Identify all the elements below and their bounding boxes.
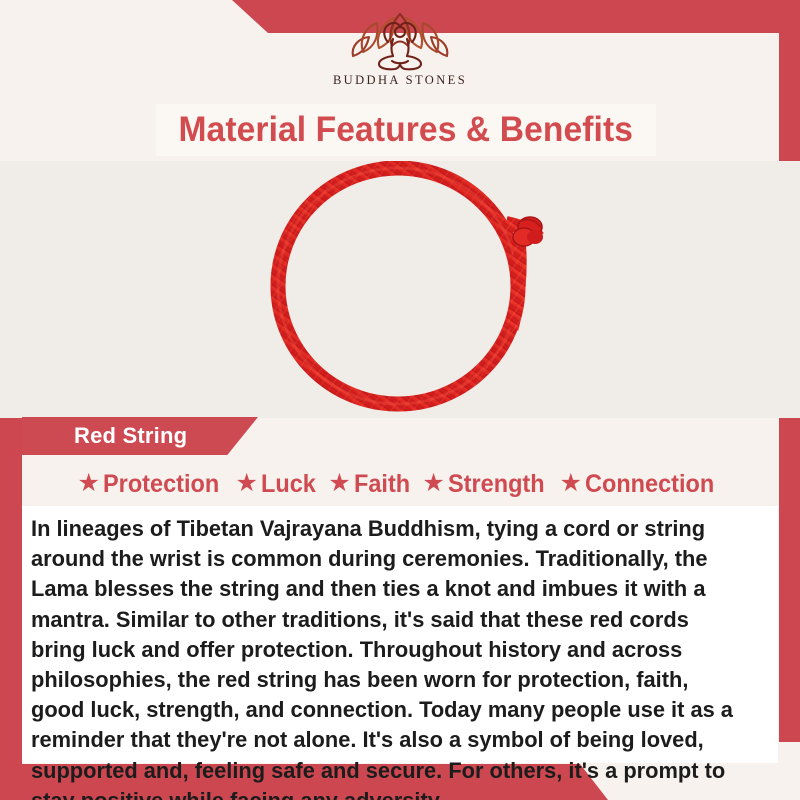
page-title: Material Features & Benefits [179,110,634,150]
description-card: In lineages of Tibetan Vajrayana Buddhis… [22,506,778,763]
star-icon: ★ [422,471,444,496]
title-banner: Material Features & Benefits [156,104,656,156]
benefit-label: Protection [103,470,219,499]
benefits-row: ★ Protection ★ Luck ★ Faith ★ Strength ★… [22,464,778,504]
benefit-item: ★ Protection [77,470,226,499]
benefit-label: Connection [585,470,714,499]
material-flag-label: Red String [22,423,187,449]
star-icon: ★ [236,471,258,496]
benefit-item: ★ Faith [328,470,413,499]
lotus-meditation-logo-icon [341,10,459,72]
brand-header: BUDDHA STONES [0,0,800,100]
benefit-label: Luck [261,470,316,499]
star-icon: ★ [328,471,350,496]
star-icon: ★ [560,471,582,496]
benefit-item: ★ Connection [560,470,723,499]
description-text: In lineages of Tibetan Vajrayana Buddhis… [31,514,740,800]
product-info-poster: BUDDHA STONES Material Features & Benefi… [0,0,800,800]
brand-name: BUDDHA STONES [333,73,467,88]
star-icon: ★ [77,471,99,496]
material-flag: Red String [22,417,258,455]
benefit-item: ★ Luck [236,470,320,499]
benefit-item: ★ Strength [422,470,550,499]
benefit-label: Faith [354,470,410,499]
product-photo [0,161,800,418]
benefit-label: Strength [448,470,545,499]
